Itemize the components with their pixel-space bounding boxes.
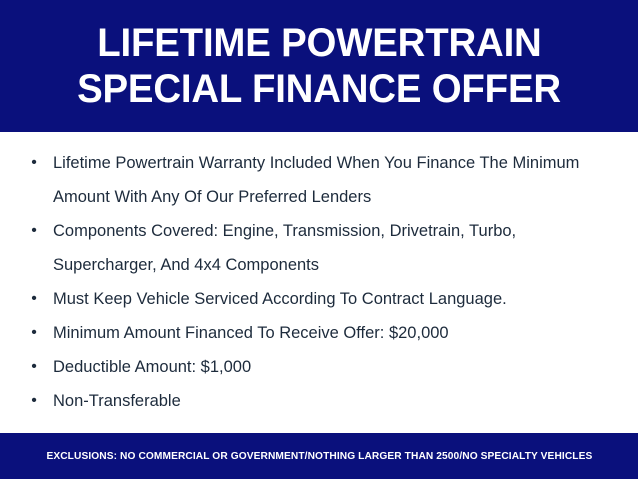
offer-slide: LIFETIME POWERTRAIN SPECIAL FINANCE OFFE…: [0, 0, 638, 479]
list-item-text: Deductible Amount: $1,000: [53, 350, 624, 384]
bullet-point-icon: •: [28, 282, 40, 316]
list-item-text: Components Covered: Engine, Transmission…: [53, 214, 624, 282]
list-item-text: Minimum Amount Financed To Receive Offer…: [53, 316, 624, 350]
page-title-line-2: SPECIAL FINANCE OFFER: [77, 66, 561, 112]
list-item: • Must Keep Vehicle Serviced According T…: [22, 282, 624, 316]
offer-bullet-list: • Lifetime Powertrain Warranty Included …: [22, 146, 624, 418]
bullet-point-icon: •: [28, 384, 40, 418]
list-item: • Non-Transferable: [22, 384, 624, 418]
list-item: • Deductible Amount: $1,000: [22, 350, 624, 384]
list-item-text: Lifetime Powertrain Warranty Included Wh…: [53, 146, 624, 214]
exclusions-text: EXCLUSIONS: NO COMMERCIAL OR GOVERNMENT/…: [46, 449, 592, 463]
bullet-point-icon: •: [28, 350, 40, 384]
list-item: • Components Covered: Engine, Transmissi…: [22, 214, 624, 282]
bullet-point-icon: •: [28, 214, 40, 248]
list-item-text: Must Keep Vehicle Serviced According To …: [53, 282, 624, 316]
offer-details-body: • Lifetime Powertrain Warranty Included …: [0, 132, 638, 433]
bullet-point-icon: •: [28, 146, 40, 180]
list-item: • Minimum Amount Financed To Receive Off…: [22, 316, 624, 350]
list-item-text: Non-Transferable: [53, 384, 624, 418]
page-title-line-1: LIFETIME POWERTRAIN: [97, 20, 541, 66]
list-item: • Lifetime Powertrain Warranty Included …: [22, 146, 624, 214]
bullet-point-icon: •: [28, 316, 40, 350]
header-banner: LIFETIME POWERTRAIN SPECIAL FINANCE OFFE…: [0, 0, 638, 132]
exclusions-footer-banner: EXCLUSIONS: NO COMMERCIAL OR GOVERNMENT/…: [0, 433, 638, 479]
